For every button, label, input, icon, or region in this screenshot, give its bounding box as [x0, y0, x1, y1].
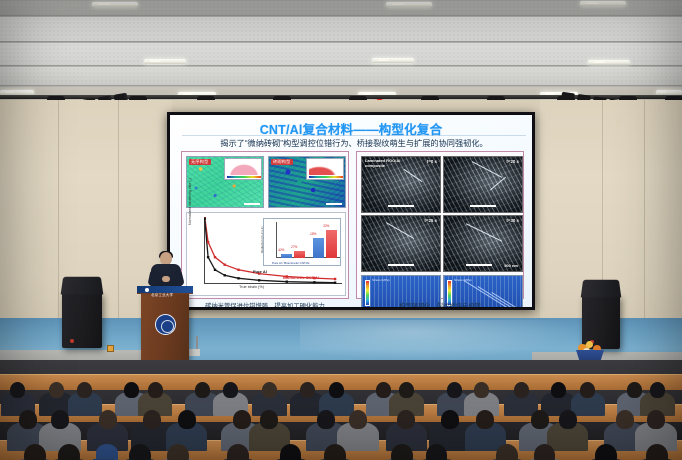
bar-plot-area: 42% 27% 18% 33%	[277, 223, 337, 258]
left-panel-caption: 碳纳米管促进位错增殖，提高加工硬化能力	[181, 301, 349, 307]
kam-map-brickwork: 砖砌构型	[268, 156, 346, 208]
audience-member-head	[559, 410, 577, 429]
audience-member-head	[595, 444, 617, 460]
bar: 42%	[281, 254, 292, 258]
sem-timestamp: t=20 s	[506, 159, 519, 164]
scalebar	[326, 203, 342, 205]
scalebar	[244, 203, 260, 205]
sem-timestamp: t=0 s	[427, 159, 437, 164]
audience-member-head	[551, 382, 566, 398]
ceiling-band	[0, 42, 682, 66]
audience-member-head	[77, 382, 92, 398]
stage-edge-lamp	[107, 345, 114, 352]
lectern-banner-text: 北京工业大学	[151, 292, 197, 297]
projection-screen[interactable]: CNT/Al复合材料——构型化复合 揭示了“微纳砖砌”构型调控位错行为、桥接裂纹…	[167, 112, 535, 310]
audience-member-head	[447, 382, 462, 398]
audience-member-head	[616, 410, 634, 429]
audience-member-head	[514, 382, 529, 398]
audience-member-head	[300, 382, 315, 398]
hardening-rate-chart: Normalized hardening rate (-) True strai…	[186, 212, 346, 296]
audience-member-head	[143, 410, 161, 429]
bar-value: 33%	[323, 224, 329, 228]
audience-member-head	[223, 382, 238, 398]
right-panel-caption: 构型强韧化，裂纹桥接与偏转	[356, 301, 524, 307]
lectern-small-crest	[144, 287, 150, 293]
university-crest-icon	[155, 314, 176, 335]
sem-micrograph: t=20 s	[443, 156, 523, 213]
audience-member-head	[349, 410, 367, 429]
ceiling-light	[588, 60, 630, 65]
bar-value: 18%	[310, 232, 316, 236]
audience-member-head	[10, 382, 25, 398]
bar: 33%	[326, 230, 337, 258]
lectern: 北京工业大学	[141, 292, 189, 364]
audience-member-head	[124, 382, 139, 398]
presentation-slide: CNT/Al复合材料——构型化复合 揭示了“微纳砖砌”构型调控位错行为、桥接裂纹…	[170, 115, 532, 307]
kam-map-disordered: 无序构型	[186, 156, 264, 208]
ceiling-light	[92, 2, 138, 7]
audience-member-head	[262, 382, 277, 398]
loudspeaker-left	[62, 292, 102, 348]
audience-member-head	[476, 410, 494, 429]
audience-seating	[0, 360, 682, 460]
title-divider	[182, 135, 526, 136]
audience-member-head	[627, 382, 642, 398]
audience-member-head	[580, 382, 595, 398]
series-label-biomimetic: Biomimetic CNT/Al	[283, 275, 319, 280]
chart-y-label: Normalized hardening rate (-)	[188, 173, 192, 225]
audience-member-head	[148, 382, 163, 398]
audience-member-head	[397, 410, 415, 429]
audience-member-head	[24, 444, 46, 460]
sem-scalebar-label: 500 nm	[504, 263, 518, 268]
audience-member-head	[496, 444, 518, 460]
bar-y-label: Reduction (m-2 s-1)	[260, 226, 264, 253]
kam-histogram-inset	[306, 158, 344, 180]
audience-member-head	[233, 410, 251, 429]
audience-member-head	[399, 382, 414, 398]
audience-member-head	[647, 410, 665, 429]
right-figure-panel: Laminated RGO/Al composite t=0 s t=20 s …	[356, 151, 524, 299]
bar-value: 27%	[291, 245, 297, 249]
bar-value: 42%	[278, 248, 284, 252]
ceiling-band	[0, 16, 682, 42]
slide-subtitle: 揭示了“微纳砖砌”构型调控位错行为、桥接裂纹萌生与扩展的协同强韧化。	[180, 137, 528, 149]
audience-member-head	[317, 410, 335, 429]
audience-member-head	[474, 382, 489, 398]
sem-micrograph: t=30 s 500 nm	[443, 215, 523, 272]
audience-member-head	[49, 382, 64, 398]
audience-member-head	[531, 410, 549, 429]
audience-member-head	[167, 444, 189, 460]
audience-member-head	[260, 410, 278, 429]
bar: 18%	[313, 238, 324, 258]
kam-map-tag: 无序构型	[189, 159, 211, 165]
audience-member-head	[129, 444, 151, 460]
chart-x-label: True strain (%)	[239, 285, 264, 289]
series-label-pure-al: Pure Al	[253, 269, 267, 274]
ceiling-band	[0, 66, 682, 86]
audience-member-head	[195, 382, 210, 398]
audience-member-cap	[96, 444, 118, 460]
ceiling-light	[386, 2, 432, 7]
sem-micrograph: t=25 s	[361, 215, 441, 272]
sem-micrograph: Laminated RGO/Al composite t=0 s	[361, 156, 441, 213]
bar-x-label: Pure Al / Biomimetic CNT/Al	[272, 261, 309, 265]
reduction-bar-chart: Reduction (m-2 s-1) 42% 27% 18% 33% Pure…	[263, 218, 341, 266]
auditorium-screenshot: CNT/Al复合材料——构型化复合 揭示了“微纳砖砌”构型调控位错行为、桥接裂纹…	[0, 0, 682, 460]
kam-histogram-inset	[224, 158, 262, 180]
bar: 27%	[294, 251, 305, 258]
audience-member-head	[178, 410, 196, 429]
audience-member-head	[51, 410, 69, 429]
kam-map-tag: 砖砌构型	[271, 159, 293, 165]
sem-timestamp: t=25 s	[424, 218, 437, 223]
sem-timestamp: t=30 s	[506, 218, 519, 223]
simulation-label: Stress (MPa)	[372, 278, 390, 282]
audience-member-head	[329, 382, 344, 398]
audience-member-head	[99, 410, 117, 429]
left-figure-panel: 无序构型 砖砌构型 Normalized hardening	[181, 151, 349, 299]
audience-member-head	[650, 382, 665, 398]
ceiling	[0, 0, 682, 108]
audience-member-head	[441, 410, 459, 429]
sem-header: Laminated RGO/Al composite	[365, 159, 409, 168]
audience-member-head	[391, 444, 413, 460]
ceiling-light	[580, 1, 626, 6]
ceiling-light	[372, 58, 414, 63]
ceiling-light	[144, 59, 186, 64]
audience-member-head	[19, 410, 37, 429]
audience-member-head	[376, 382, 391, 398]
